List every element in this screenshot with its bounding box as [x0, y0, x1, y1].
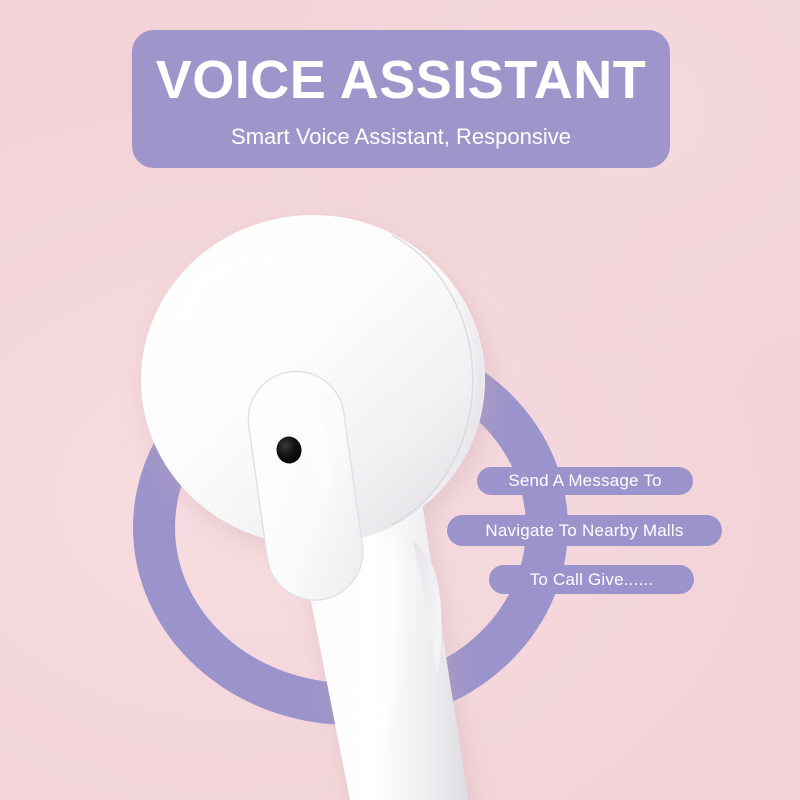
- feature-pill-label: Send A Message To: [508, 471, 661, 491]
- promo-banner-canvas: VOICE ASSISTANT Smart Voice Assistant, R…: [0, 0, 800, 800]
- feature-pill-to-call-give[interactable]: To Call Give......: [489, 565, 694, 594]
- feature-pill-label: To Call Give......: [530, 570, 654, 590]
- feature-pill-navigate-to-nearby-malls[interactable]: Navigate To Nearby Malls: [447, 515, 722, 546]
- feature-pill-label: Navigate To Nearby Malls: [485, 521, 683, 541]
- feature-pill-send-a-message[interactable]: Send A Message To: [477, 467, 693, 495]
- page-title: VOICE ASSISTANT: [156, 53, 647, 108]
- header-banner: VOICE ASSISTANT Smart Voice Assistant, R…: [132, 30, 670, 168]
- page-subtitle: Smart Voice Assistant, Responsive: [231, 124, 571, 150]
